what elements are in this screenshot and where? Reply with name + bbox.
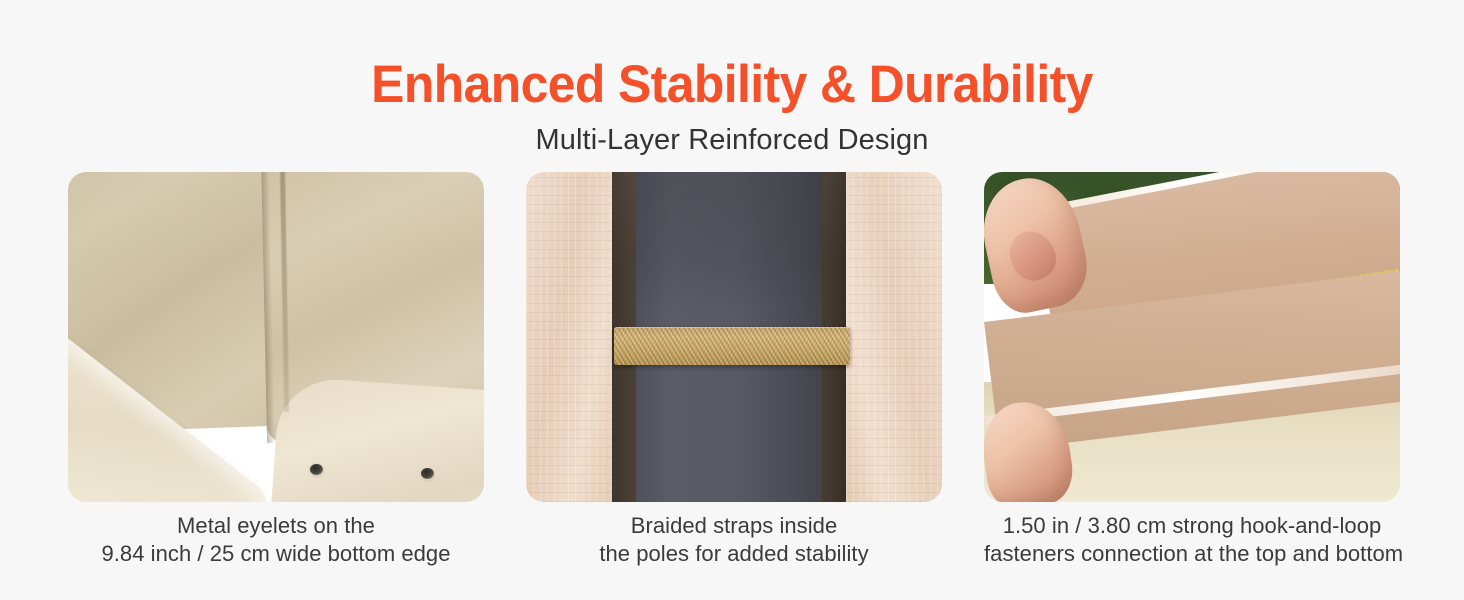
- thumbnail: [1001, 223, 1063, 288]
- strap-weave-texture: [614, 327, 850, 365]
- caption-line: Braided straps inside: [526, 512, 942, 540]
- caption-metal-eyelets: Metal eyelets on the 9.84 inch / 25 cm w…: [68, 512, 484, 568]
- canopy-skirt-right: [268, 376, 484, 502]
- caption-line: 9.84 inch / 25 cm wide bottom edge: [68, 540, 484, 568]
- pole-shading: [636, 172, 822, 312]
- feature-image-row: [68, 172, 1396, 502]
- metal-eyelet: [421, 468, 434, 479]
- photo-braided-straps: [526, 172, 942, 502]
- caption-line: fasteners connection at the top and bott…: [984, 540, 1400, 568]
- page-title: Enhanced Stability & Durability: [44, 0, 1420, 114]
- caption-line: the poles for added stability: [526, 540, 942, 568]
- metal-eyelet: [310, 464, 323, 475]
- product-feature-infographic: Enhanced Stability & Durability Multi-La…: [0, 0, 1464, 600]
- feature-image-hook-and-loop-fasteners: [984, 172, 1400, 502]
- fabric-weave-texture: [846, 172, 942, 502]
- feature-caption-row: Metal eyelets on the 9.84 inch / 25 cm w…: [68, 512, 1396, 568]
- cover-fabric-right: [846, 172, 942, 502]
- fabric-weave-texture: [526, 172, 616, 502]
- photo-hook-and-loop-fasteners: [984, 172, 1400, 502]
- caption-braided-straps: Braided straps inside the poles for adde…: [526, 512, 942, 568]
- braided-strap: [614, 327, 850, 365]
- page-subtitle: Multi-Layer Reinforced Design: [0, 114, 1464, 157]
- caption-line: Metal eyelets on the: [68, 512, 484, 540]
- feature-image-metal-eyelets: [68, 172, 484, 502]
- header: Enhanced Stability & Durability Multi-La…: [0, 0, 1464, 157]
- caption-hook-and-loop-fasteners: 1.50 in / 3.80 cm strong hook-and-loop f…: [984, 512, 1400, 568]
- cover-fabric-left: [526, 172, 616, 502]
- feature-image-braided-straps: [526, 172, 942, 502]
- caption-line: 1.50 in / 3.80 cm strong hook-and-loop: [984, 512, 1400, 540]
- photo-metal-eyelets: [68, 172, 484, 502]
